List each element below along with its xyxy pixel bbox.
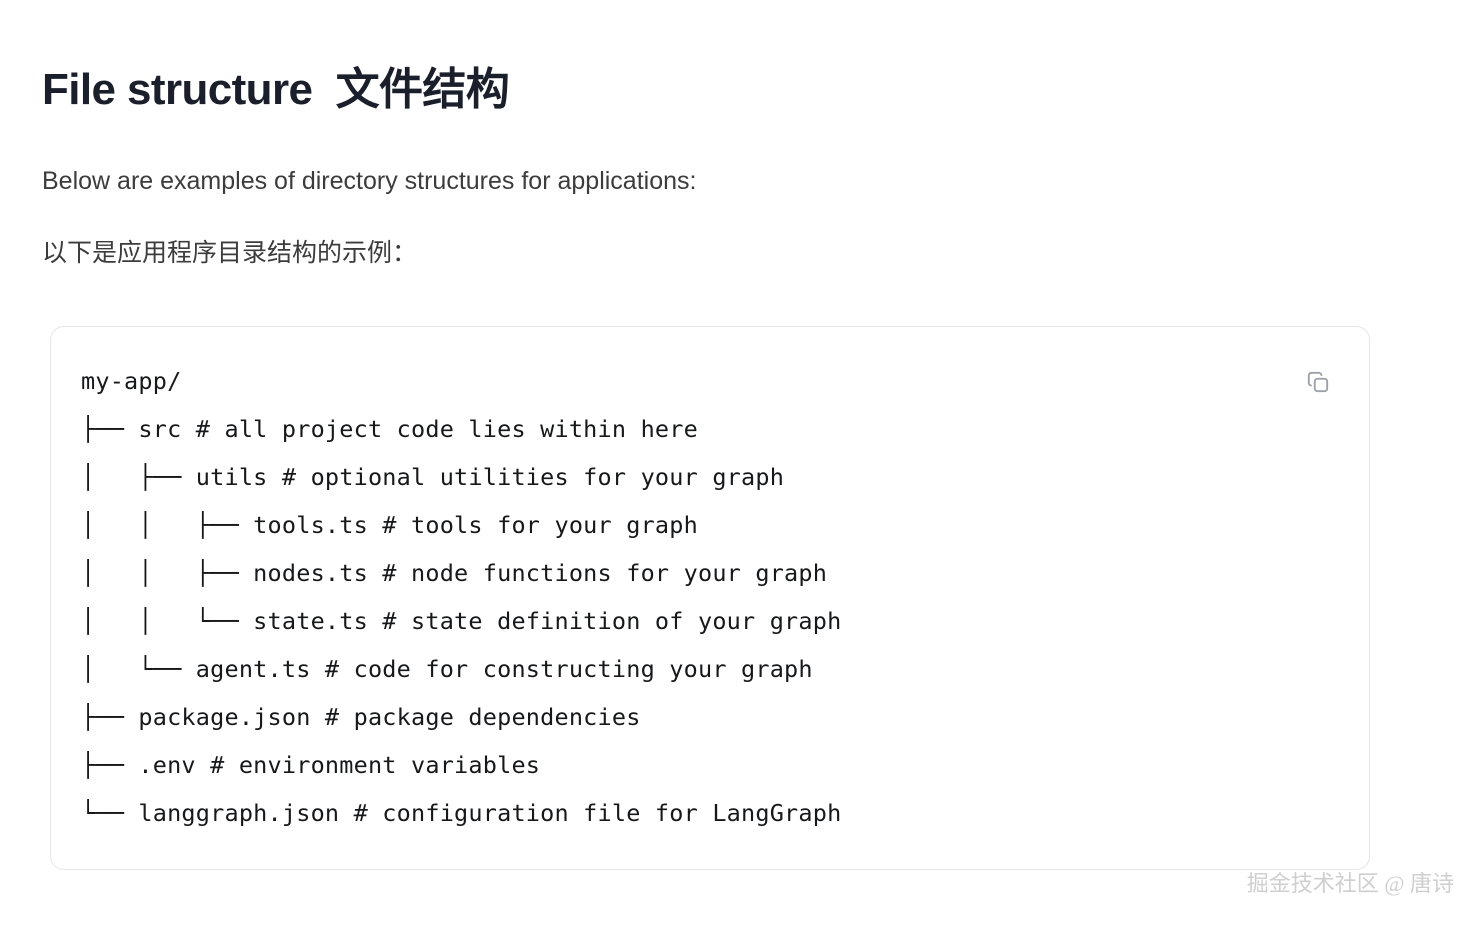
code-line: ├── package.json # package dependencies [81, 693, 1335, 741]
code-line: │ │ ├── tools.ts # tools for your graph [81, 501, 1335, 549]
code-line: ├── src # all project code lies within h… [81, 405, 1335, 453]
code-block-card: my-app/├── src # all project code lies w… [50, 326, 1370, 870]
copy-button[interactable] [1303, 367, 1333, 397]
code-line: │ ├── utils # optional utilities for you… [81, 453, 1335, 501]
code-line: ├── .env # environment variables [81, 741, 1335, 789]
article-page: File structure 文件结构 Below are examples o… [0, 0, 1476, 926]
code-line: my-app/ [81, 357, 1335, 405]
code-line: │ │ ├── nodes.ts # node functions for yo… [81, 549, 1335, 597]
page-title: File structure 文件结构 [42, 0, 1434, 118]
code-line: └── langgraph.json # configuration file … [81, 789, 1335, 837]
file-tree-code[interactable]: my-app/├── src # all project code lies w… [81, 357, 1335, 837]
copy-icon [1305, 369, 1331, 395]
code-line: │ └── agent.ts # code for constructing y… [81, 645, 1335, 693]
watermark: 掘金技术社区 @ 唐诗 [1247, 870, 1454, 898]
file-tree-lines: my-app/├── src # all project code lies w… [81, 357, 1335, 837]
intro-paragraph-zh: 以下是应用程序目录结构的示例： [42, 198, 1434, 270]
code-line: │ │ └── state.ts # state definition of y… [81, 597, 1335, 645]
intro-paragraph-en: Below are examples of directory structur… [42, 118, 1434, 198]
